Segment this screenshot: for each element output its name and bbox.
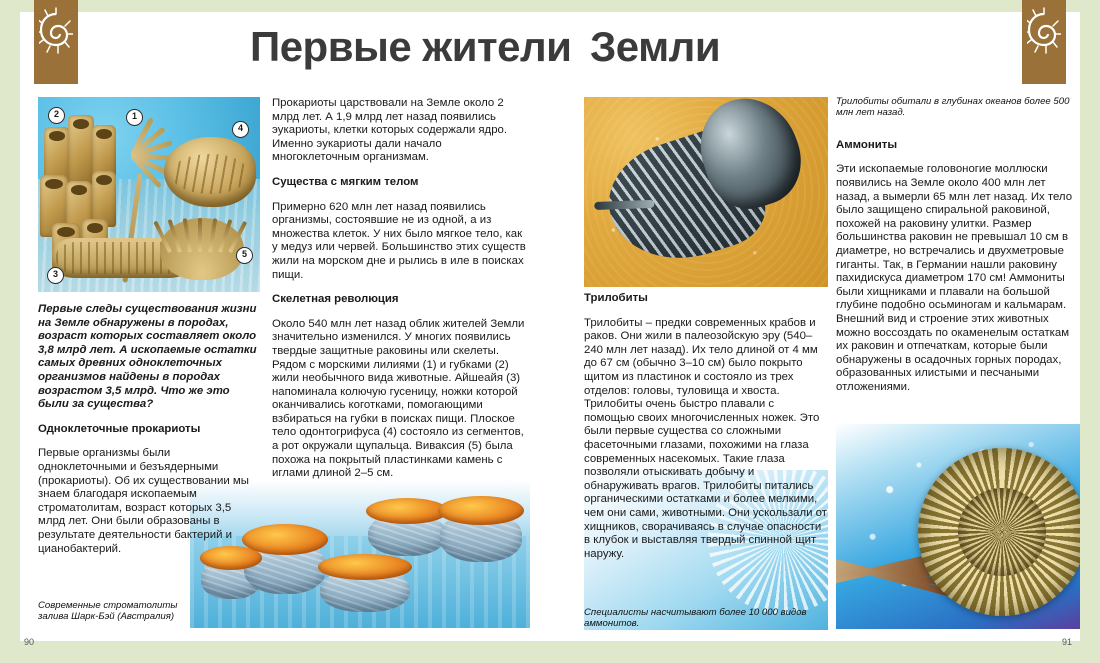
body-paragraph-ammonites: Эти ископаемые головоногие моллюски появ… [836,163,1076,394]
stromatolite-shape [318,554,412,616]
odontogriphus-shape [164,137,256,207]
ammonite-illustration [836,424,1080,629]
ammonite-spiral-icon [39,6,73,66]
body-paragraph-soft-bodied: Примерно 620 млн лет назад появились орг… [272,201,530,283]
body-paragraph-skeletal-revolution: Около 540 млн лет назад облик жителей Зе… [272,318,530,481]
subheading-trilobites: Трилобиты [584,292,827,306]
page-number-left: 90 [24,637,34,647]
page-title-main: Первые жители [250,26,571,68]
caption-stromatolites: Современные строматолиты залива Шарк-Бэй… [38,600,188,623]
subheading-skeletal-revolution: Скелетная революция [272,293,530,307]
caption-trilobite: Трилобиты обитали в глубинах океанов бол… [836,96,1076,119]
figure-marker-3: 3 [47,267,64,284]
subheading-prokaryotes: Одноклеточные прокариоты [38,423,260,437]
body-paragraph-intro: Прокариоты царствовали на Земле около 2 … [272,97,530,165]
figure-marker-5: 5 [236,247,253,264]
figure-marker-4: 4 [232,121,249,138]
text-column-a: Первые следы существования жизни на Земл… [38,303,260,567]
body-paragraph-trilobites: Трилобиты – предки современных крабов и … [584,317,827,562]
cambrian-seafloor-illustration: 1 2 3 4 5 [38,97,260,292]
trilobite-fossil-photo [584,97,828,287]
text-column-b: Прокариоты царствовали на Земле около 2 … [272,97,530,492]
ammonite-emblem-right [1022,0,1066,84]
figure-marker-2: 2 [48,107,65,124]
ammonite-spiral-icon [1027,6,1061,66]
stromatolite-shape [366,498,448,560]
text-column-c: Трилобиты Трилобиты – предки современных… [584,292,827,572]
ammonite-shell [918,448,1080,616]
caption-ammonites-count: Специалисты насчитывают более 10 000 вид… [584,607,814,630]
subheading-ammonites: Аммониты [836,139,1076,153]
book-spread: Первые жители Земли [0,0,1100,663]
figure-marker-1: 1 [126,109,143,126]
lead-paragraph: Первые следы существования жизни на Земл… [38,303,260,412]
sponge-shape [68,115,94,185]
wiwaxia-shape [160,218,244,280]
subheading-soft-bodied: Существа с мягким телом [272,176,530,190]
ammonite-emblem-left [34,0,78,84]
page-number-right: 91 [1062,637,1072,647]
text-column-d: Трилобиты обитали в глубинах океанов бол… [836,96,1076,406]
page-title-sub: Земли [590,26,720,68]
body-paragraph: Первые организмы были одноклеточными и б… [38,447,260,556]
stromatolite-shape [438,496,524,566]
